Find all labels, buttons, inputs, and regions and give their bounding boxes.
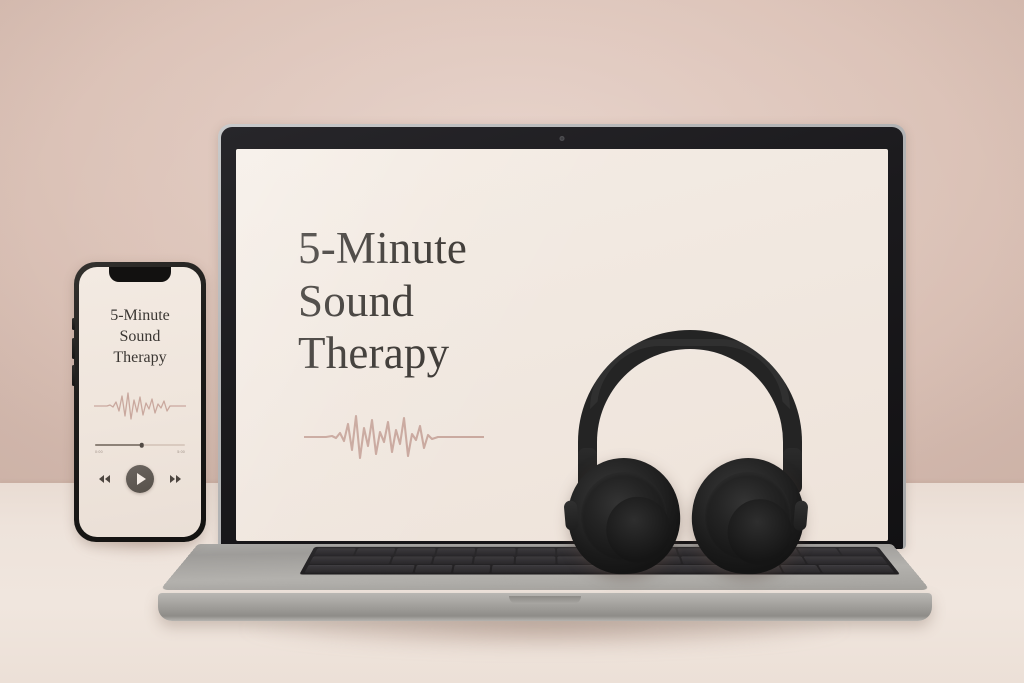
earcup-hinge: [793, 500, 809, 531]
laptop-title-line-1: 5-Minute: [298, 222, 467, 275]
rewind-icon[interactable]: [99, 475, 110, 483]
laptop-base: [150, 544, 940, 638]
key[interactable]: [453, 565, 490, 573]
play-icon: [137, 473, 146, 485]
key[interactable]: [476, 549, 515, 556]
laptop-lid-notch: [509, 596, 581, 604]
headphones-headband-highlight: [590, 339, 790, 409]
phone-screen[interactable]: 5-Minute Sound Therapy 0:00 5:00: [79, 267, 201, 537]
fast-forward-icon[interactable]: [170, 475, 181, 483]
key[interactable]: [436, 549, 476, 556]
key[interactable]: [354, 549, 395, 556]
phone-progress-slider[interactable]: [95, 444, 185, 446]
key[interactable]: [391, 557, 433, 564]
key[interactable]: [415, 565, 453, 573]
phone-progress-fill: [95, 444, 142, 446]
laptop-screen-title: 5-Minute Sound Therapy: [298, 222, 467, 380]
key[interactable]: [804, 557, 888, 564]
phone-screen-title: 5-Minute Sound Therapy: [110, 305, 170, 368]
key[interactable]: [309, 557, 391, 564]
phone-title-line-1: 5-Minute: [110, 305, 170, 326]
key[interactable]: [395, 549, 435, 556]
phone-player-controls: [99, 465, 181, 493]
earcup-inner: [701, 468, 794, 563]
laptop-device: 5-Minute Sound Therapy: [150, 124, 940, 644]
earcup-hinge: [563, 500, 579, 531]
headphones-device: [566, 330, 814, 570]
elapsed-time-label: 0:00: [95, 450, 103, 454]
earcup-pad: [725, 496, 795, 567]
key[interactable]: [432, 557, 473, 564]
key[interactable]: [516, 557, 556, 564]
key[interactable]: [305, 565, 415, 573]
phone-progress-knob[interactable]: [140, 443, 145, 448]
phone-title-line-2: Sound: [110, 326, 170, 347]
laptop-waveform-icon: [304, 406, 484, 468]
phone-volume-down-button[interactable]: [72, 365, 75, 386]
scene-backdrop: 5-Minute Sound Therapy: [0, 0, 1024, 683]
phone-mute-switch[interactable]: [72, 318, 75, 330]
play-button[interactable]: [126, 465, 154, 493]
key[interactable]: [314, 549, 356, 556]
phone-device: 5-Minute Sound Therapy 0:00 5:00: [74, 262, 206, 542]
phone-volume-up-button[interactable]: [72, 338, 75, 359]
earcup-pad: [604, 494, 674, 565]
phone-notch: [109, 267, 171, 282]
key[interactable]: [517, 549, 556, 556]
total-time-label: 5:00: [177, 450, 185, 454]
laptop-deck: [160, 544, 930, 590]
key[interactable]: [474, 557, 514, 564]
laptop-title-line-2: Sound: [298, 275, 467, 328]
phone-time-labels: 0:00 5:00: [95, 450, 185, 454]
earcup-inner: [577, 468, 670, 563]
webcam-icon: [560, 136, 565, 141]
phone-title-line-3: Therapy: [110, 347, 170, 368]
laptop-title-line-3: Therapy: [298, 327, 467, 380]
phone-body: 5-Minute Sound Therapy 0:00 5:00: [74, 262, 206, 542]
phone-waveform-icon: [94, 388, 186, 424]
key[interactable]: [818, 565, 895, 573]
phone-progress-section: 0:00 5:00: [91, 444, 189, 454]
key[interactable]: [838, 549, 881, 556]
